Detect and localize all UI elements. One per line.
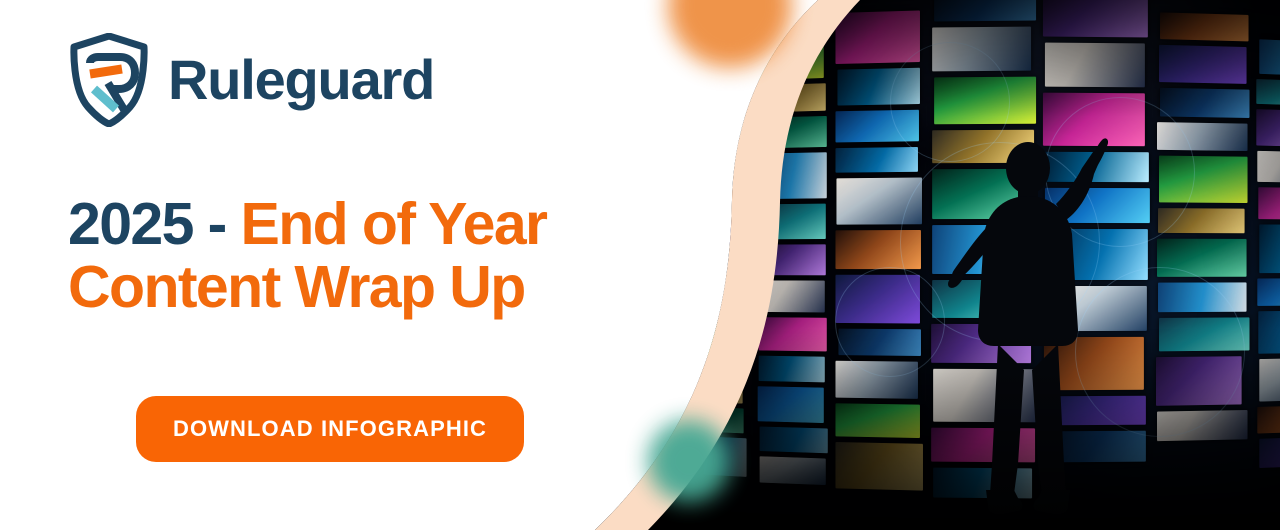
video-wall-screen: [1256, 79, 1280, 106]
media-image: [560, 0, 1280, 530]
video-wall-screen: [1158, 208, 1245, 234]
video-wall-screen: [703, 248, 744, 271]
brand-name: Ruleguard: [168, 52, 434, 108]
video-wall-screen: [934, 76, 1036, 124]
video-wall-screen: [932, 130, 1034, 163]
video-wall-screen: [1160, 87, 1250, 118]
video-wall-screen: [835, 110, 919, 143]
video-wall-screen: [835, 404, 920, 438]
video-wall-screen: [758, 386, 824, 423]
video-wall-screen: [934, 369, 1037, 422]
video-wall-screen: [835, 10, 920, 63]
video-wall-screen: [759, 152, 827, 199]
video-wall-column: [930, 0, 1038, 530]
video-wall-column: [1042, 0, 1152, 530]
video-wall-column: [1256, 39, 1280, 523]
video-wall-screen: [836, 177, 921, 224]
video-wall-screen: [1044, 430, 1145, 462]
video-wall-screen: [1158, 282, 1246, 312]
video-wall-screen: [836, 275, 920, 324]
video-wall-screen: [757, 36, 824, 81]
video-wall-screen: [1044, 396, 1146, 425]
video-wall-screen: [1157, 122, 1248, 151]
video-wall-screen: [932, 169, 1030, 219]
video-wall-screen: [1156, 356, 1242, 406]
video-wall-screen: [933, 467, 1032, 498]
promo-banner: Ruleguard 2025 - End of Year Content Wra…: [0, 0, 1280, 530]
video-wall-screen: [1045, 152, 1149, 182]
ruleguard-shield-r-icon: [68, 33, 150, 127]
video-wall-screen: [932, 280, 1031, 318]
video-wall: [700, 0, 1280, 530]
video-wall-screen: [1159, 44, 1246, 83]
video-wall-screen: [1257, 278, 1280, 305]
video-wall-screen: [836, 147, 919, 173]
video-wall-screen: [931, 428, 1035, 462]
video-wall-screen: [1259, 224, 1280, 273]
video-wall-screen: [1259, 39, 1280, 76]
video-wall-screen: [1157, 410, 1248, 440]
video-wall-screen: [1043, 229, 1147, 280]
video-wall-screen: [701, 360, 743, 403]
video-wall-screen: [931, 323, 1030, 363]
video-wall-screen: [1259, 436, 1280, 468]
video-wall-screen: [1157, 239, 1247, 277]
video-wall-screen: [759, 317, 827, 351]
video-wall-screen: [760, 244, 826, 275]
video-wall-column: [834, 10, 925, 530]
headline-emphasis-1: End of Year: [240, 191, 546, 257]
headline-emphasis-2: Content Wrap Up: [68, 254, 525, 320]
video-wall-screen: [1159, 317, 1250, 351]
video-wall-screen: [1258, 187, 1280, 219]
video-wall-screen: [1259, 358, 1280, 402]
brand-logo[interactable]: Ruleguard: [68, 33, 434, 127]
video-wall-screen: [759, 204, 826, 240]
video-wall-column: [1156, 12, 1251, 530]
video-wall-screen: [760, 426, 828, 453]
video-wall-screen: [703, 68, 744, 98]
video-wall-screen: [759, 356, 825, 382]
video-wall-screen: [1159, 156, 1247, 203]
video-wall-screen: [835, 230, 921, 269]
video-wall-screen: [1258, 405, 1280, 433]
video-wall-column: [701, 67, 752, 507]
video-wall-screen: [836, 442, 923, 491]
video-wall-screen: [760, 116, 827, 148]
video-wall-screen: [835, 361, 918, 400]
video-wall-screen: [1257, 109, 1280, 147]
video-wall-column: [757, 35, 830, 519]
video-wall-screen: [1044, 336, 1144, 390]
video-wall-screen: [1043, 92, 1145, 146]
video-wall-screen: [1258, 311, 1280, 355]
download-infographic-button[interactable]: DOWNLOAD INFOGRAPHIC: [136, 396, 524, 462]
video-wall-screen: [760, 456, 826, 484]
video-wall-screen: [702, 190, 743, 216]
video-wall-screen: [703, 101, 745, 139]
headline-year: 2025 -: [68, 191, 240, 257]
video-wall-screen: [703, 320, 749, 356]
video-wall-screen: [701, 143, 742, 187]
video-wall-screen: [1045, 187, 1150, 223]
page-title: 2025 - End of Year Content Wrap Up: [68, 193, 648, 318]
video-wall-screen: [1043, 0, 1148, 37]
video-wall-screen: [704, 276, 750, 317]
video-wall-screen: [838, 329, 921, 356]
video-wall-screen: [701, 407, 743, 433]
video-wall-screen: [1044, 286, 1147, 331]
video-wall-screen: [1160, 12, 1249, 41]
content-column: Ruleguard 2025 - End of Year Content Wra…: [0, 0, 660, 530]
video-wall-screen: [759, 280, 825, 313]
video-wall-screen: [704, 436, 746, 477]
video-wall-screen: [1044, 42, 1144, 87]
video-wall-screen: [932, 224, 1030, 273]
video-wall-screen: [1257, 151, 1280, 183]
video-wall-screen: [932, 27, 1031, 71]
video-wall-screen: [759, 83, 826, 112]
video-wall-screen: [934, 0, 1036, 22]
video-wall-screen: [837, 68, 920, 106]
video-wall-screen: [702, 221, 749, 244]
